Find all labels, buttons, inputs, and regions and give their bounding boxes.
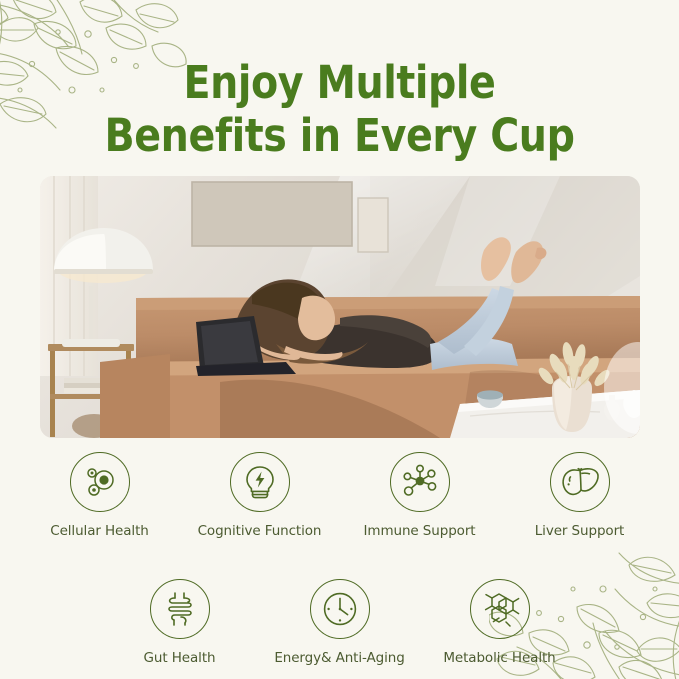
benefit-item-metabolic-health[interactable]: Metabolic Health [432,579,568,666]
benefit-label: Metabolic Health [443,650,555,666]
benefit-item-immune-support[interactable]: Immune Support [352,452,488,539]
benefits-row-1: Cellular Health Cognitive Function [0,452,679,539]
benefit-label: Immune Support [364,523,476,539]
liver-icon [550,452,610,512]
benefit-label: Cellular Health [50,523,149,539]
benefit-item-gut-health[interactable]: Gut Health [112,579,248,666]
benefit-label: Liver Support [535,523,624,539]
hero-image [40,176,640,438]
page-title: Enjoy Multiple Benefits in Every Cup [41,56,639,162]
clock-icon [310,579,370,639]
benefits-row-2: Gut Health Ene [0,579,679,666]
benefit-item-cellular-health[interactable]: Cellular Health [32,452,168,539]
honeycomb-molecule-icon [470,579,530,639]
benefit-item-liver-support[interactable]: Liver Support [512,452,648,539]
cell-icon [70,452,130,512]
benefit-item-cognitive-function[interactable]: Cognitive Function [192,452,328,539]
promo-banner: Enjoy Multiple Benefits in Every Cup [0,0,679,679]
benefit-item-energy-anti-aging[interactable]: Energy& Anti-Aging [272,579,408,666]
lightbulb-icon [230,452,290,512]
benefits-grid: Cellular Health Cognitive Function [0,452,679,666]
molecule-node-icon [390,452,450,512]
benefit-label: Energy& Anti-Aging [274,650,404,666]
benefit-label: Gut Health [144,650,216,666]
benefit-label: Cognitive Function [198,523,322,539]
hero-illustration [40,176,640,438]
headline-line-2: Benefits in Every Cup [41,109,639,162]
intestine-icon [150,579,210,639]
headline-line-1: Enjoy Multiple [184,56,496,109]
